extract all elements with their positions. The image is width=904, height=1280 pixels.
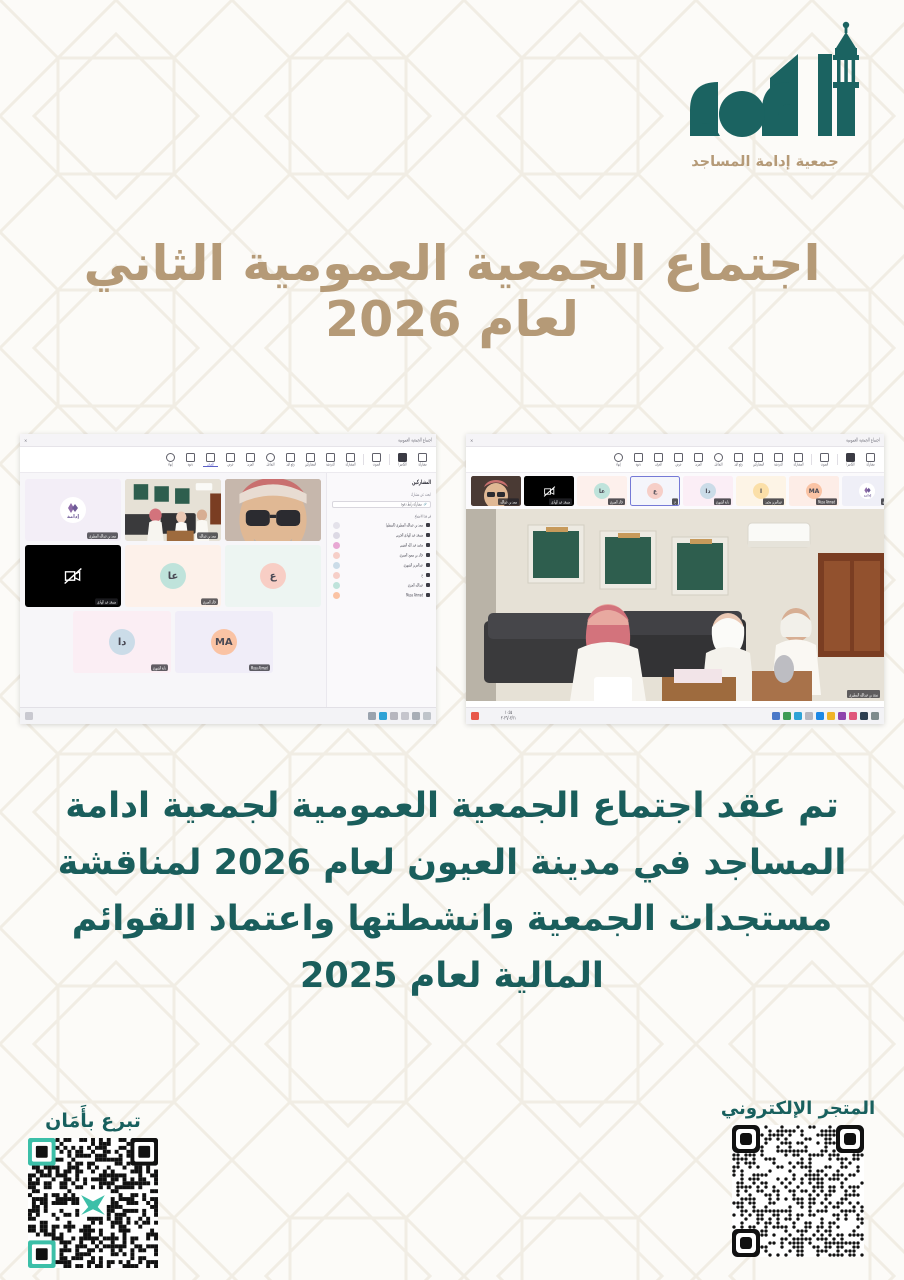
tray-icon[interactable] <box>860 712 868 720</box>
toolbar-person-share-icon[interactable]: مشاركة <box>863 453 878 466</box>
filmstrip-tile[interactable]: اعبدالعزيز محمد <box>736 476 786 506</box>
leave-call-icon <box>614 453 623 462</box>
meeting-toolbar-left[interactable]: مشاركةالكاميراالصوتالمشاركةالدردشةالمشار… <box>466 447 884 473</box>
toolbar-label: المزيد <box>247 462 254 467</box>
avatar: عا <box>594 483 610 499</box>
video-grid-row: إدامةسعد بن عبدالله المطيريسعد بن عبدالل… <box>25 479 321 541</box>
mic-muted-icon <box>426 533 431 538</box>
raise-hand-icon <box>286 453 295 462</box>
participant-name-badge: Musa Ahmad <box>816 498 837 505</box>
participant-name-badge: خالد العمري <box>201 598 218 605</box>
camera-off-icon <box>63 566 83 586</box>
share-screen-icon <box>346 453 355 462</box>
toolbar-chat-icon[interactable]: الدردشة <box>771 453 786 466</box>
toolbar-separator <box>811 454 812 465</box>
toolbar-label: الغرف <box>655 462 662 467</box>
mic-icon <box>372 453 381 462</box>
mic-icon <box>820 453 829 462</box>
filmstrip-tile[interactable]: مسجد عبد الهادي <box>524 476 574 506</box>
toolbar-add-person-icon[interactable]: دعوة <box>631 453 646 466</box>
avatar <box>333 552 340 559</box>
screenshot-strip: اجتماع الجمعية العمومية × مشاركةالكاميرا… <box>20 434 884 730</box>
participant-name: خالد بن سعود العمري <box>343 553 424 558</box>
participant-name-badge: مسجد عبد الهادي <box>95 598 118 605</box>
toolbar-label: المشاركة <box>794 462 804 467</box>
participant-search-label[interactable]: ابحث عن مشارك <box>411 491 431 498</box>
participant-list-item[interactable]: عبدالعزيز الشهري <box>332 560 431 570</box>
video-tile[interactable]: مسجد عبد الهادي <box>25 545 121 607</box>
toolbar-label: إنهاء <box>168 462 173 467</box>
breakout-icon <box>206 453 215 462</box>
leave-call-icon <box>166 453 175 462</box>
organization-logo: جمعية إدامة المساجد <box>650 18 880 186</box>
taskbar-tray[interactable] <box>772 712 879 720</box>
toolbar-label: الغرف <box>207 462 214 467</box>
participant-list-item[interactable]: مسجد عبد الهادي الحربي <box>332 530 431 540</box>
toolbar-separator <box>837 454 838 465</box>
poster-title: اجتماع الجمعية العمومية الثاني لعام 2026 <box>0 238 904 348</box>
avatar: إدامة <box>859 483 875 499</box>
participant-name-badge: سعد بن عبدالله المطيري <box>87 532 118 539</box>
title-line-2: لعام 2026 <box>0 293 904 348</box>
toolbar-label: التفاعل <box>267 462 275 467</box>
toolbar-label: الصوت <box>821 462 829 467</box>
participant-name-badge: سعد بن عبدالله <box>498 498 519 505</box>
avatar: عا <box>160 563 186 589</box>
donate-qr-caption: تبرع بأَمَان <box>18 1110 168 1132</box>
organization-avatar-icon: إدامة <box>860 484 875 499</box>
link-icon: 🔗 <box>424 503 427 506</box>
filmstrip-tile[interactable]: MAMusa Ahmad <box>789 476 839 506</box>
poster-root: جمعية إدامة المساجد اجتماع الجمعية العمو… <box>0 0 904 1280</box>
participants-panel-title: المشاركين <box>332 479 431 486</box>
toolbar-label: عرض <box>227 462 233 467</box>
participant-list-item[interactable]: خالد بن سعود العمري <box>332 550 431 560</box>
toolbar-label: الكاميرا <box>846 462 854 467</box>
toolbar-label: دعوة <box>188 462 193 467</box>
tray-icon[interactable] <box>816 712 824 720</box>
participant-webcam-portrait <box>225 479 321 541</box>
toolbar-label: المشاركين <box>753 462 764 467</box>
camera-icon <box>846 453 855 462</box>
toolbar-raise-hand-icon[interactable]: رفع اليد <box>283 453 298 466</box>
taskbar-tray[interactable] <box>368 712 431 720</box>
participant-name-badge: سعد بن عبدالله <box>197 532 218 539</box>
toolbar-people-icon[interactable]: المشاركين <box>751 453 766 466</box>
qr-code-icon[interactable] <box>28 1138 158 1268</box>
raise-hand-icon <box>734 453 743 462</box>
add-person-icon <box>634 453 643 462</box>
video-tile[interactable] <box>225 479 321 541</box>
toolbar-label: دعوة <box>636 462 641 467</box>
window-title-left: اجتماع الجمعية العمومية <box>846 437 880 443</box>
filmstrip-tile[interactable]: إدامةإدامة <box>842 476 884 506</box>
toolbar-label: المشاركين <box>305 462 316 467</box>
toolbar-more-icon[interactable]: المزيد <box>691 453 706 466</box>
mosque-minaret-icon <box>650 18 880 158</box>
filmstrip-tile[interactable]: عاخالد العمري <box>577 476 627 506</box>
video-tile[interactable]: إدامةسعد بن عبدالله المطيري <box>25 479 121 541</box>
participants-group-label: في هذا الاجتماع <box>332 514 431 519</box>
screenshot-left-meeting-view: اجتماع الجمعية العمومية × مشاركةالكاميرا… <box>466 434 884 724</box>
more-icon <box>694 453 703 462</box>
toolbar-share-screen-icon[interactable]: المشاركة <box>791 453 806 466</box>
participant-filmstrip[interactable]: سعد بن عبداللهمسجد عبد الهاديعاخالد العم… <box>466 473 884 509</box>
title-line-1: اجتماع الجمعية العمومية الثاني <box>0 238 904 291</box>
avatar <box>333 582 340 589</box>
mic-muted-icon <box>426 573 431 578</box>
tray-icon[interactable] <box>871 712 879 720</box>
avatar <box>333 542 340 549</box>
tray-icon[interactable] <box>838 712 846 720</box>
window-titlebar-right: اجتماع الجمعية العمومية × <box>20 434 436 447</box>
avatar: ع <box>260 563 286 589</box>
toolbar-view-icon[interactable]: عرض <box>671 453 686 466</box>
avatar <box>333 532 340 539</box>
video-tile[interactable]: MAMusa Ahmad <box>175 611 273 673</box>
person-share-icon <box>418 453 427 462</box>
windows-taskbar-right[interactable] <box>20 707 436 724</box>
tray-icon[interactable] <box>379 712 387 720</box>
mic-muted-icon <box>426 593 431 598</box>
donate-qr-block: تبرع بأَمَان <box>18 1110 168 1268</box>
avatar <box>333 592 340 599</box>
avatar: إدامة <box>60 497 86 523</box>
avatar: MA <box>806 483 822 499</box>
toolbar-breakout-icon[interactable]: الغرف <box>203 453 218 467</box>
meeting-room-video-frame <box>466 509 884 701</box>
toolbar-people-icon[interactable]: المشاركين <box>303 453 318 466</box>
windows-taskbar-left[interactable]: ١٠:٥٤ ٢٠٢٦/٠٢/١١ <box>466 707 884 724</box>
avatar: ع <box>647 483 663 499</box>
video-tile[interactable]: دادانة الشهري <box>73 611 171 673</box>
camera-off-icon <box>543 485 556 498</box>
toolbar-view-icon[interactable]: عرض <box>223 453 238 466</box>
logo-tagline: جمعية إدامة المساجد <box>650 154 880 170</box>
svg-text:إدامة: إدامة <box>67 514 79 520</box>
video-grid-row: دادانة الشهريMAMusa Ahmad <box>25 611 321 673</box>
participant-name: مسجد عبد الهادي الحربي <box>343 533 424 538</box>
toolbar-label: التفاعل <box>715 462 723 467</box>
toolbar-label: الدردشة <box>326 462 335 467</box>
toolbar-camera-icon[interactable]: الكاميرا <box>843 453 858 466</box>
avatar: دا <box>700 483 716 499</box>
toolbar-leave-call-icon[interactable]: إنهاء <box>163 453 178 466</box>
toolbar-label: الدردشة <box>774 462 783 467</box>
share-invite-link-button[interactable]: 🔗 مشاركة رابط دعوة <box>332 501 431 508</box>
people-icon <box>306 453 315 462</box>
tray-icon[interactable] <box>827 712 835 720</box>
tray-icon[interactable] <box>423 712 431 720</box>
participant-name: ع <box>343 573 424 578</box>
toolbar-add-person-icon[interactable]: دعوة <box>183 453 198 466</box>
share-screen-icon <box>794 453 803 462</box>
toolbar-label: الصوت <box>373 462 381 467</box>
avatar <box>333 562 340 569</box>
tray-icon[interactable] <box>849 712 857 720</box>
video-tile[interactable]: عاخالد العمري <box>125 545 221 607</box>
participant-name: عبدالله العنزي <box>343 583 424 588</box>
video-grid-row: مسجد عبد الهاديعاخالد العمريع <box>25 545 321 607</box>
taskbar-clock: ١٠:٥٤ ٢٠٢٦/٠٢/١١ <box>501 711 516 722</box>
avatar: دا <box>109 629 135 655</box>
window-titlebar-left: اجتماع الجمعية العمومية × <box>466 434 884 447</box>
participant-name: Musa Ahmad <box>343 593 424 598</box>
store-qr-block: المتجر الإلكتروني <box>718 1098 878 1257</box>
avatar: ا <box>753 483 769 499</box>
video-tile[interactable]: ع <box>225 545 321 607</box>
toolbar-label: عرض <box>675 462 681 467</box>
toolbar-separator <box>389 454 390 465</box>
toolbar-separator <box>363 454 364 465</box>
toolbar-share-screen-icon[interactable]: المشاركة <box>343 453 358 466</box>
participant-list-item[interactable]: عبدالله العنزي <box>332 580 431 590</box>
toolbar-label: مشاركة <box>418 462 426 467</box>
toolbar-breakout-icon[interactable]: الغرف <box>651 453 666 466</box>
reactions-icon <box>266 453 275 462</box>
tray-icon[interactable] <box>772 712 780 720</box>
taskbar-app-icon[interactable] <box>25 712 33 720</box>
invite-label: مشاركة رابط دعوة <box>401 502 422 507</box>
mic-muted-icon <box>426 583 431 588</box>
avatar: MA <box>211 629 237 655</box>
mic-muted-icon <box>426 563 431 568</box>
toolbar-label: الكاميرا <box>398 462 406 467</box>
toolbar-label: إنهاء <box>616 462 621 467</box>
toolbar-chat-icon[interactable]: الدردشة <box>323 453 338 466</box>
video-tile[interactable]: سعد بن عبدالله <box>125 479 221 541</box>
participants-panel: المشاركين ابحث عن مشارك 🔗 مشاركة رابط دع… <box>326 473 436 724</box>
toolbar-more-icon[interactable]: المزيد <box>243 453 258 466</box>
tray-icon[interactable] <box>794 712 802 720</box>
participant-name-badge: خالد العمري <box>608 498 625 505</box>
reactions-icon <box>714 453 723 462</box>
tray-icon[interactable] <box>390 712 398 720</box>
toolbar-label: مشاركة <box>866 462 874 467</box>
gallery-body: المشاركين ابحث عن مشارك 🔗 مشاركة رابط دع… <box>20 473 436 724</box>
toolbar-label: رفع اليد <box>286 462 294 467</box>
toolbar-leave-call-icon[interactable]: إنهاء <box>611 453 626 466</box>
screenshot-right-gallery-view: اجتماع الجمعية العمومية × مشاركةالكاميرا… <box>20 434 436 724</box>
participant-list[interactable]: سعد بن عبدالله المطيري (المنظم)مسجد عبد … <box>332 520 431 600</box>
toolbar-mic-icon[interactable]: الصوت <box>369 453 384 466</box>
filmstrip-tile[interactable]: عع <box>630 476 680 506</box>
toolbar-reactions-icon[interactable]: التفاعل <box>711 453 726 466</box>
meeting-toolbar-right[interactable]: مشاركةالكاميراالصوتالمشاركةالدردشةالمشار… <box>20 447 436 473</box>
participant-list-item[interactable]: محمد عبد الله العتيبي <box>332 540 431 550</box>
toolbar-reactions-icon[interactable]: التفاعل <box>263 453 278 466</box>
tray-icon[interactable] <box>401 712 409 720</box>
chat-icon <box>774 453 783 462</box>
avatar <box>333 572 340 579</box>
toolbar-person-share-icon[interactable]: مشاركة <box>415 453 430 466</box>
tray-icon[interactable] <box>368 712 376 720</box>
mic-muted-icon <box>426 523 431 528</box>
video-tile-grid: إدامةسعد بن عبدالله المطيريسعد بن عبدالل… <box>20 473 326 724</box>
window-close-icon[interactable]: × <box>24 438 27 443</box>
more-icon <box>246 453 255 462</box>
view-icon <box>226 453 235 462</box>
chat-icon <box>326 453 335 462</box>
mic-muted-icon <box>426 553 431 558</box>
stage-name-badge: سعد بن عبدالله المطيري <box>847 690 880 698</box>
filmstrip-tile[interactable]: سعد بن عبدالله <box>471 476 521 506</box>
people-icon <box>754 453 763 462</box>
mic-muted-icon <box>426 543 431 548</box>
toolbar-label: رفع اليد <box>734 462 742 467</box>
breakout-icon <box>654 453 663 462</box>
window-title-right: اجتماع الجمعية العمومية <box>398 437 432 443</box>
participant-name-badge: مسجد عبد الهادي <box>549 498 572 505</box>
participant-name-badge: إدامة <box>881 498 884 505</box>
tray-icon[interactable] <box>412 712 420 720</box>
main-video-stage: سعد بن عبدالله المطيري <box>466 509 884 701</box>
taskbar-app-icon[interactable] <box>471 712 479 720</box>
participant-name-badge: دانة الشهري <box>714 498 731 505</box>
participant-name-badge: دانة الشهري <box>151 664 168 671</box>
store-qr-caption: المتجر الإلكتروني <box>718 1098 878 1119</box>
participant-name: عبدالعزيز الشهري <box>343 563 424 568</box>
camera-icon <box>398 453 407 462</box>
window-close-icon[interactable]: × <box>470 438 473 443</box>
participant-name: سعد بن عبدالله المطيري (المنظم) <box>343 523 424 528</box>
avatar <box>333 522 340 529</box>
person-share-icon <box>866 453 875 462</box>
add-person-icon <box>186 453 195 462</box>
filmstrip-tile[interactable]: دادانة الشهري <box>683 476 733 506</box>
participant-list-item[interactable]: سعد بن عبدالله المطيري (المنظم) <box>332 520 431 530</box>
participant-name: محمد عبد الله العتيبي <box>343 543 424 548</box>
participant-name-badge: عبدالعزيز محمد <box>763 498 784 505</box>
organization-avatar-icon: إدامة <box>61 498 85 522</box>
toolbar-label: المشاركة <box>346 462 356 467</box>
toolbar-camera-icon[interactable]: الكاميرا <box>395 453 410 466</box>
participant-name-badge: Musa Ahmad <box>249 664 270 671</box>
poster-body-paragraph: تم عقد اجتماع الجمعية العمومية لجمعية اد… <box>40 778 864 1005</box>
toolbar-mic-icon[interactable]: الصوت <box>817 453 832 466</box>
tray-icon[interactable] <box>783 712 791 720</box>
view-icon <box>674 453 683 462</box>
toolbar-label: المزيد <box>695 462 702 467</box>
toolbar-raise-hand-icon[interactable]: رفع اليد <box>731 453 746 466</box>
participant-list-item[interactable]: ع <box>332 570 431 580</box>
qr-code-icon[interactable] <box>732 1125 864 1257</box>
participant-name-badge: ع <box>672 498 678 505</box>
participant-list-item[interactable]: Musa Ahmad <box>332 590 431 600</box>
tray-icon[interactable] <box>805 712 813 720</box>
